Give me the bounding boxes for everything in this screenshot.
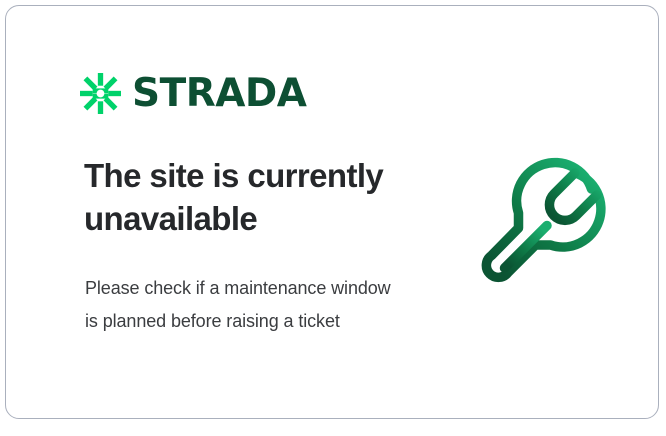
error-page: STRADA The site is currently unavailable…: [0, 0, 666, 436]
status-card: STRADA The site is currently unavailable…: [5, 5, 659, 419]
brand-wordmark: STRADA: [132, 74, 306, 113]
page-description: Please check if a maintenance window is …: [85, 272, 405, 338]
strada-asterisk-icon: [80, 73, 121, 114]
page-title: The site is currently unavailable: [84, 154, 424, 240]
brand-lockup: STRADA: [80, 73, 306, 114]
wrench-icon: [458, 156, 626, 324]
